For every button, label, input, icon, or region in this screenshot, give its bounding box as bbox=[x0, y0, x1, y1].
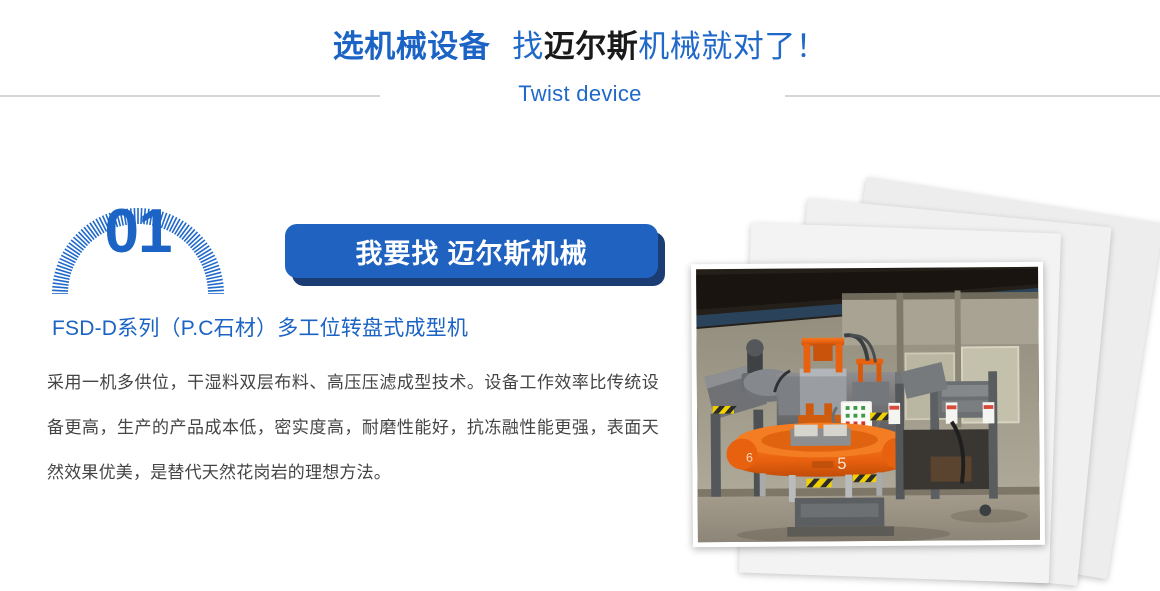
turntable-number-left: 6 bbox=[746, 451, 753, 465]
photo-stack: 6 5 bbox=[0, 0, 1160, 591]
product-photo-frame: 6 5 bbox=[691, 262, 1045, 547]
product-photo: 6 5 bbox=[696, 267, 1040, 542]
factory-machine-illustration: 6 5 bbox=[696, 267, 1040, 542]
turntable-number-right: 5 bbox=[837, 455, 846, 473]
